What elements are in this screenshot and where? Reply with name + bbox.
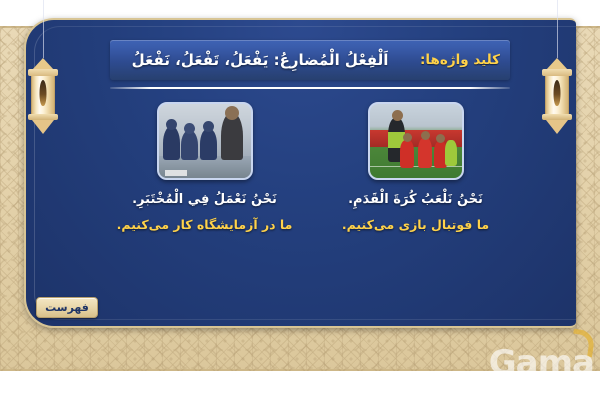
student-head: [184, 123, 195, 134]
student-figure: [200, 128, 217, 160]
persian-translation-laboratory: ما در آزمایشگاه کار می‌کنیم.: [117, 217, 293, 232]
player-bib-figure: [445, 140, 457, 166]
pitch-line: [370, 166, 462, 167]
title-separator-line: [110, 87, 510, 89]
keywords-value: اَلْفِعْلُ الْمُضارِعُ: یَفْعَلُ، تَفْعَ…: [122, 51, 398, 69]
arabic-sentence-laboratory: نَحْنُ نَعْمَلُ فِي الْمُخْتَبَرِ.: [132, 192, 277, 207]
example-column-laboratory: نَحْنُ نَعْمَلُ فِي الْمُخْتَبَرِ. ما در…: [110, 102, 299, 232]
persian-translation-football: ما فوتبال بازی می‌کنیم.: [342, 217, 489, 232]
player-head: [421, 131, 430, 140]
example-column-football: نَحْنُ نَلْعَبُ كُرَةَ الْقَدَمِ. ما فوت…: [321, 102, 510, 232]
content-panel: کلید واژه‌ها: اَلْفِعْلُ الْمُضارِعُ: یَ…: [24, 18, 576, 328]
lab-photo-caption-strip: [165, 170, 187, 176]
coach-head: [392, 110, 403, 121]
index-button-label: فهرست: [45, 301, 89, 314]
student-figure: [163, 126, 180, 160]
arabic-sentence-football: نَحْنُ نَلْعَبُ كُرَةَ الْقَدَمِ.: [348, 192, 483, 207]
player-head: [403, 133, 412, 142]
examples-row: نَحْنُ نَلْعَبُ كُرَةَ الْقَدَمِ. ما فوت…: [110, 102, 510, 232]
student-figure: [181, 130, 198, 160]
keywords-label: کلید واژه‌ها:: [420, 52, 500, 68]
player-head: [436, 134, 445, 143]
slide-stage: کلید واژه‌ها: اَلْفِعْلُ الْمُضارِعُ: یَ…: [0, 0, 600, 400]
index-button[interactable]: فهرست: [36, 297, 98, 318]
student-head: [166, 119, 177, 130]
science-laboratory-photo[interactable]: [157, 102, 253, 180]
player-figure: [400, 140, 414, 168]
frame-edge-bottom: [0, 369, 600, 371]
teacher-head: [225, 106, 239, 120]
student-head: [203, 121, 214, 132]
keywords-title-bar: کلید واژه‌ها: اَلْفِعْلُ الْمُضارِعُ: یَ…: [110, 40, 510, 80]
football-practice-photo[interactable]: [368, 102, 464, 180]
player-figure: [418, 138, 432, 168]
